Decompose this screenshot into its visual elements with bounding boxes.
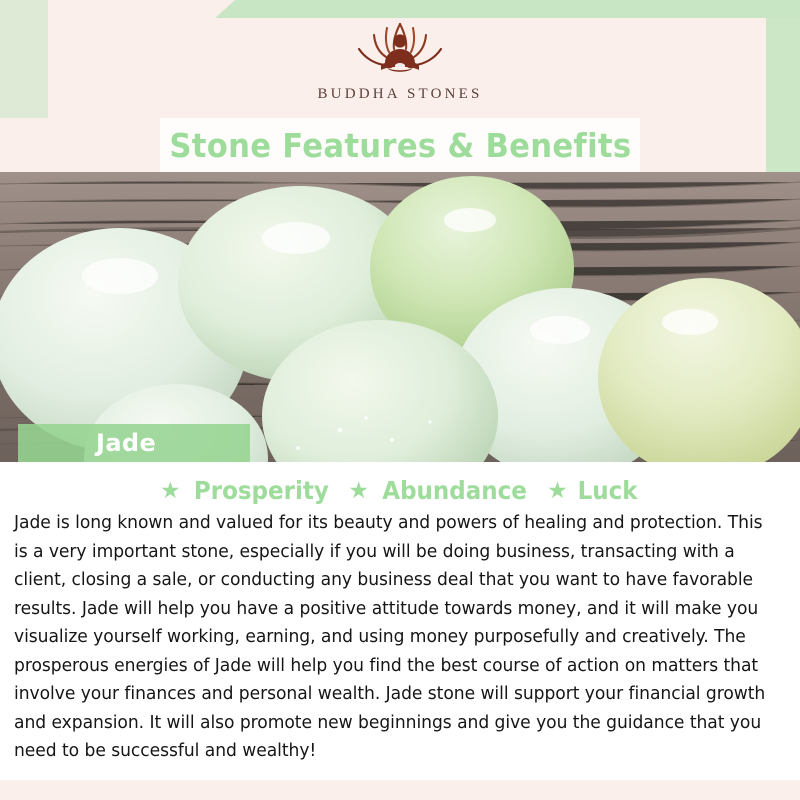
brand-header: BUDDHA STONES <box>0 0 800 120</box>
lotus-meditation-icon <box>325 18 475 80</box>
brand-logo: BUDDHA STONES <box>0 18 800 103</box>
footer-strip <box>0 780 800 800</box>
content-panel: ★ Prosperity ★ Abundance ★ Luck Jade is … <box>0 462 800 780</box>
keyword-label: Prosperity <box>194 476 329 505</box>
keyword-item-abundance: ★ Abundance <box>348 476 533 505</box>
page-title: Stone Features & Benefits <box>169 126 631 165</box>
keyword-label: Luck <box>577 476 637 505</box>
stone-photo <box>0 172 800 462</box>
brand-name: BUDDHA STONES <box>317 86 482 103</box>
star-icon: ★ <box>160 479 181 502</box>
keyword-list: ★ Prosperity ★ Abundance ★ Luck <box>0 462 800 505</box>
keyword-label: Abundance <box>382 476 527 505</box>
stone-photo-illustration <box>0 172 800 462</box>
stone-name-text: Jade <box>96 429 156 457</box>
star-icon: ★ <box>348 479 369 502</box>
stone-name-label: Jade <box>18 424 250 462</box>
title-banner: Stone Features & Benefits <box>160 118 640 172</box>
star-icon: ★ <box>547 479 568 502</box>
keyword-item-prosperity: ★ Prosperity <box>160 476 334 505</box>
stone-description: Jade is long known and valued for its be… <box>14 509 774 766</box>
keyword-item-luck: ★ Luck <box>547 476 640 505</box>
stone-info-card: BUDDHA STONES Stone Features & Benefits <box>0 0 800 800</box>
